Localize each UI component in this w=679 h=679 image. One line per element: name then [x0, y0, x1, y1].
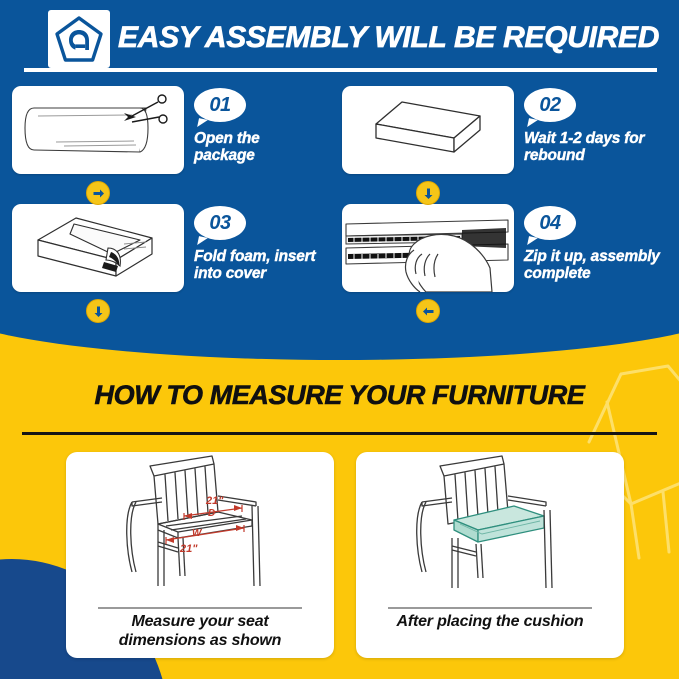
step-04-arrow-badge — [416, 299, 440, 323]
brand-logo — [48, 10, 110, 68]
depth-letter-label: D — [208, 508, 215, 519]
step-02-number: 02 — [539, 94, 560, 117]
chair-with-seat-cushion-icon — [356, 454, 624, 606]
measure-panel-1-caption: Measure your seat dimensions as shown — [76, 612, 324, 650]
step-03-text: Fold foam, insert into cover — [194, 248, 344, 282]
measure-panel-1-divider — [98, 607, 302, 609]
step-02-text: Wait 1-2 days for rebound — [524, 130, 674, 164]
step-02-caption: 02 Wait 1-2 days for rebound — [524, 88, 674, 164]
measure-panel-1: 21" D W 21" Measure your seat dimensions… — [66, 452, 334, 658]
step-04: 04 Zip it up, assembly complete — [342, 204, 672, 312]
arrow-down-icon — [422, 187, 435, 200]
assembly-steps: 01 Open the package — [0, 86, 679, 311]
measure-section-title: HOW TO MEASURE YOUR FURNITURE — [0, 380, 679, 411]
header-divider — [24, 68, 657, 72]
step-01-number-bubble: 01 — [194, 88, 246, 122]
step-01: 01 Open the package — [12, 86, 342, 194]
step-03-text-line2: into cover — [194, 265, 344, 282]
measure-panel-2-caption-line1: After placing the cushion — [366, 612, 614, 631]
step-03: 03 Fold foam, insert into cover — [12, 204, 342, 312]
step-03-text-line1: Fold foam, insert — [194, 248, 344, 265]
step-03-caption: 03 Fold foam, insert into cover — [194, 206, 344, 282]
step-04-number: 04 — [539, 212, 560, 235]
infographic-page: EASY ASSEMBLY WILL BE REQUIRED — [0, 0, 679, 679]
chair-with-dimension-labels-icon: 21" D W 21" — [66, 454, 334, 606]
step-04-illustration-card — [342, 204, 514, 292]
step-01-text: Open the package — [194, 130, 344, 164]
arrow-right-icon — [92, 187, 105, 200]
step-01-text-line1: Open the — [194, 130, 344, 147]
measure-panel-2-divider — [388, 607, 592, 609]
house-pentagon-logo-icon — [54, 15, 104, 63]
width-value-label: 21" — [179, 543, 198, 555]
measure-panel-1-caption-line1: Measure your seat — [76, 612, 324, 631]
step-01-caption: 01 Open the package — [194, 88, 344, 164]
measure-section-divider — [22, 432, 657, 435]
step-04-text-line1: Zip it up, assembly — [524, 248, 674, 265]
step-01-illustration-card — [12, 86, 184, 174]
folding-foam-into-cover-icon — [12, 204, 184, 292]
step-02-text-line1: Wait 1-2 days for — [524, 130, 674, 147]
measure-panel-2-caption: After placing the cushion — [366, 612, 614, 631]
step-04-number-bubble: 04 — [524, 206, 576, 240]
step-02-number-bubble: 02 — [524, 88, 576, 122]
step-01-number: 01 — [209, 94, 230, 117]
header: EASY ASSEMBLY WILL BE REQUIRED — [0, 0, 679, 78]
arrow-down-icon — [92, 305, 105, 318]
measure-panel-1-caption-line2: dimensions as shown — [76, 631, 324, 650]
step-02-arrow-badge — [416, 181, 440, 205]
depth-value-label: 21" — [205, 495, 224, 507]
step-03-number: 03 — [209, 212, 230, 235]
measure-panel-2: After placing the cushion — [356, 452, 624, 658]
step-04-text-line2: complete — [524, 265, 674, 282]
step-03-number-bubble: 03 — [194, 206, 246, 240]
arrow-left-icon — [422, 305, 435, 318]
step-02: 02 Wait 1-2 days for rebound — [342, 86, 672, 194]
step-03-arrow-badge — [86, 299, 110, 323]
step-04-text: Zip it up, assembly complete — [524, 248, 674, 282]
step-02-text-line2: rebound — [524, 147, 674, 164]
page-title: EASY ASSEMBLY WILL BE REQUIRED — [118, 16, 659, 60]
measure-panels: 21" D W 21" Measure your seat dimensions… — [0, 452, 679, 660]
flat-foam-cushion-icon — [342, 86, 514, 174]
rolled-package-with-scissors-icon — [12, 86, 184, 174]
hand-zipping-cover-icon — [342, 204, 514, 292]
step-01-arrow-badge — [86, 181, 110, 205]
width-letter-label: W — [192, 528, 203, 539]
step-03-illustration-card — [12, 204, 184, 292]
step-02-illustration-card — [342, 86, 514, 174]
step-01-text-line2: package — [194, 147, 344, 164]
step-04-caption: 04 Zip it up, assembly complete — [524, 206, 674, 282]
